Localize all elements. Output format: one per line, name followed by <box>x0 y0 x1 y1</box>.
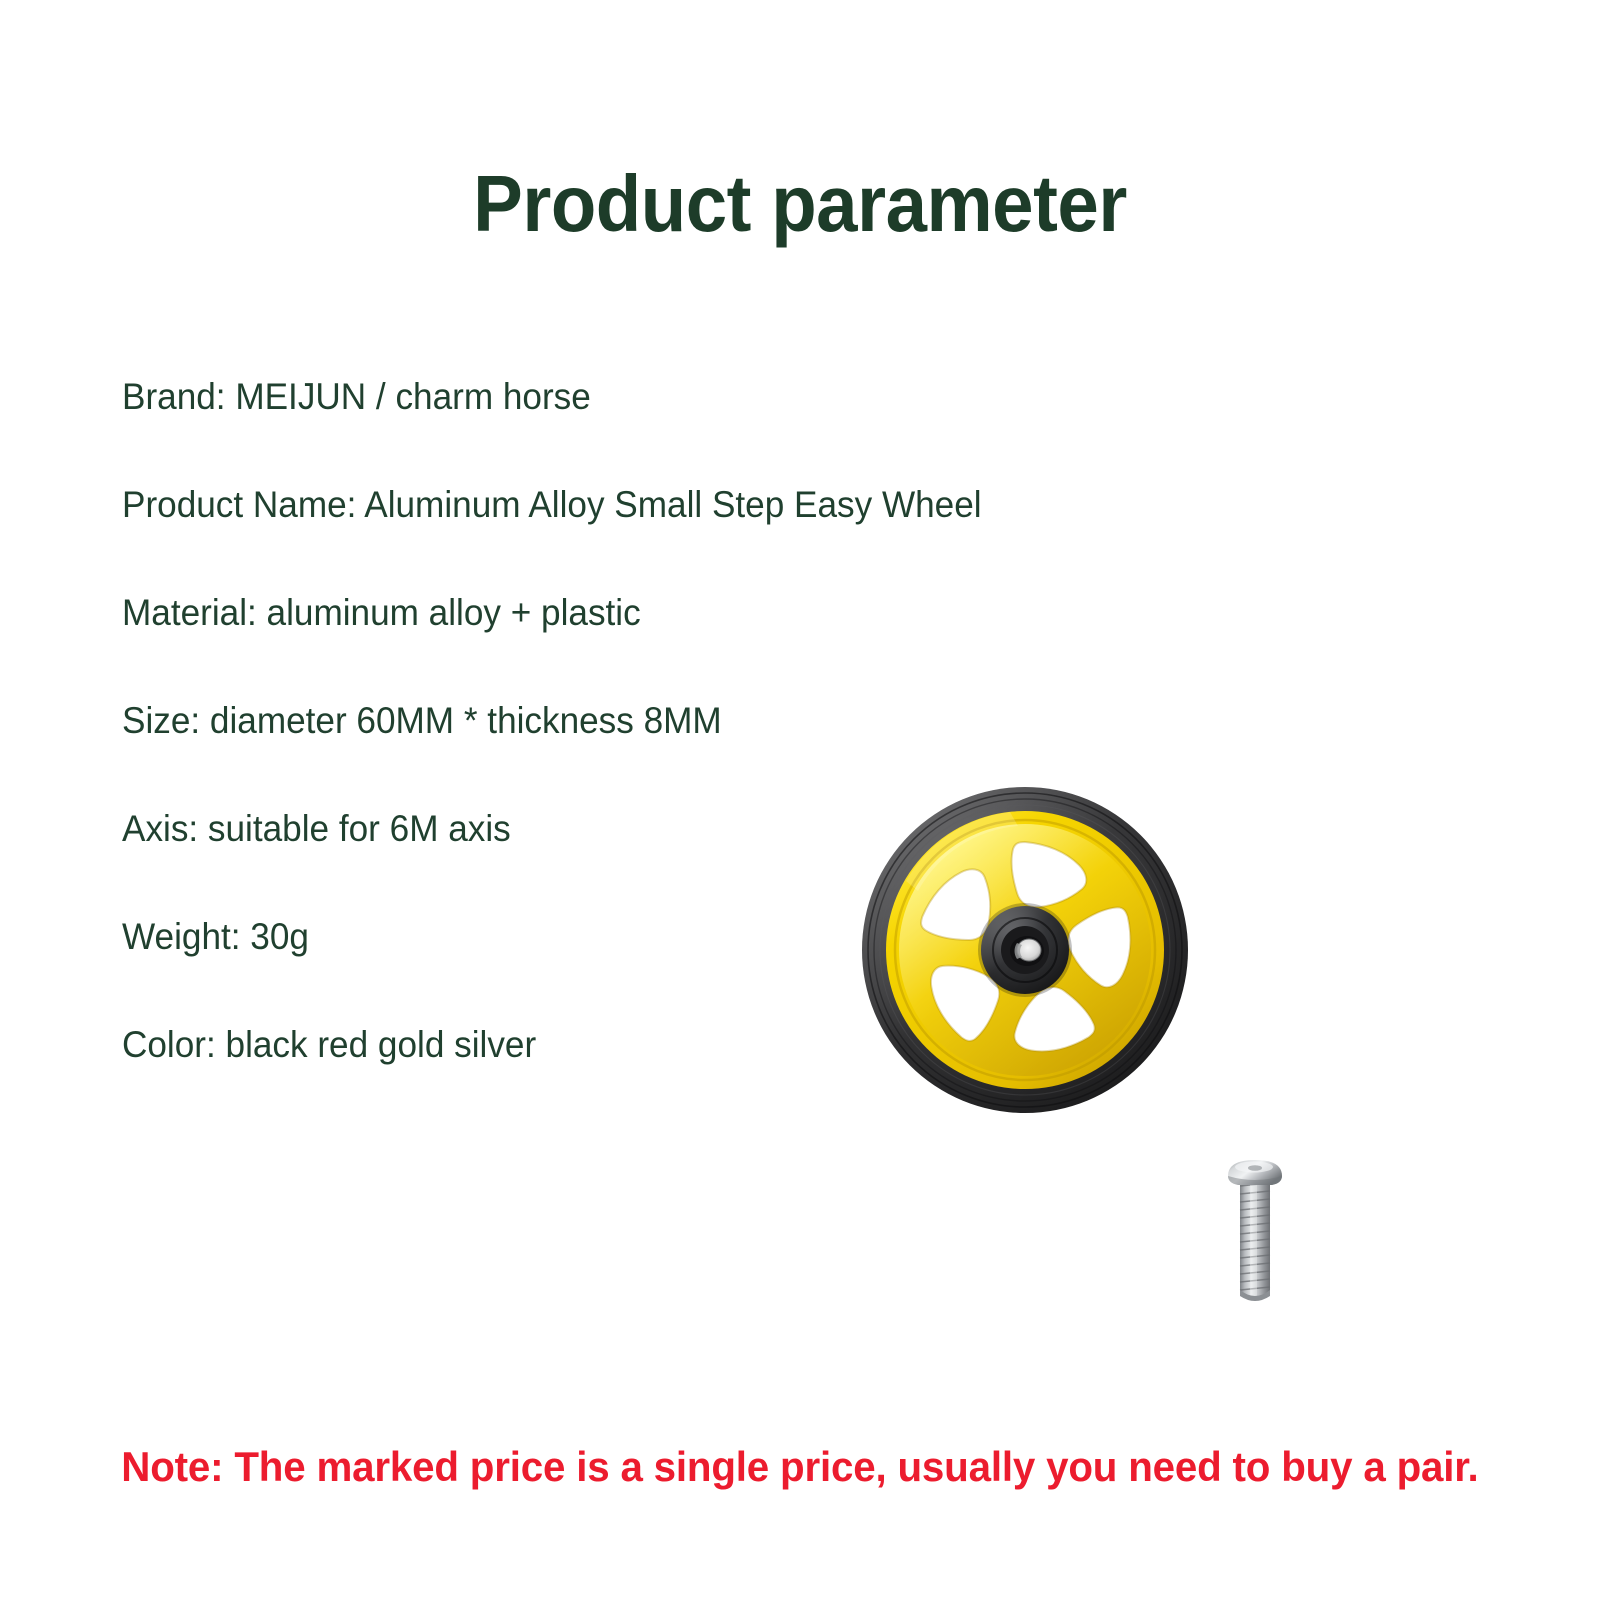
mounting-bolt-graphic <box>1210 1150 1300 1310</box>
spec-row-product-name: Product Name: Aluminum Alloy Small Step … <box>122 486 1122 594</box>
easy-wheel-icon <box>860 785 1190 1115</box>
price-note-text: Note: The marked price is a single price… <box>121 1443 1478 1491</box>
mounting-bolt-icon <box>1210 1150 1300 1310</box>
spec-line-brand: Brand: MEIJUN / charm horse <box>122 378 591 417</box>
spec-line-axis: Axis: suitable for 6M axis <box>122 810 511 849</box>
spec-line-material: Material: aluminum alloy + plastic <box>122 594 641 633</box>
product-parameter-page: Product parameter Brand: MEIJUN / charm … <box>0 0 1600 1600</box>
spec-row-brand: Brand: MEIJUN / charm horse <box>122 378 1122 486</box>
spec-line-size: Size: diameter 60MM * thickness 8MM <box>122 702 722 741</box>
spec-line-product-name: Product Name: Aluminum Alloy Small Step … <box>122 486 982 525</box>
easy-wheel-graphic <box>860 785 1190 1115</box>
spec-line-weight: Weight: 30g <box>122 918 309 957</box>
product-image-group <box>845 770 1315 1330</box>
page-title: Product parameter <box>56 158 1544 250</box>
spec-row-material: Material: aluminum alloy + plastic <box>122 594 1122 702</box>
price-note-bar: Note: The marked price is a single price… <box>0 1443 1600 1491</box>
spec-line-color: Color: black red gold silver <box>122 1026 536 1065</box>
